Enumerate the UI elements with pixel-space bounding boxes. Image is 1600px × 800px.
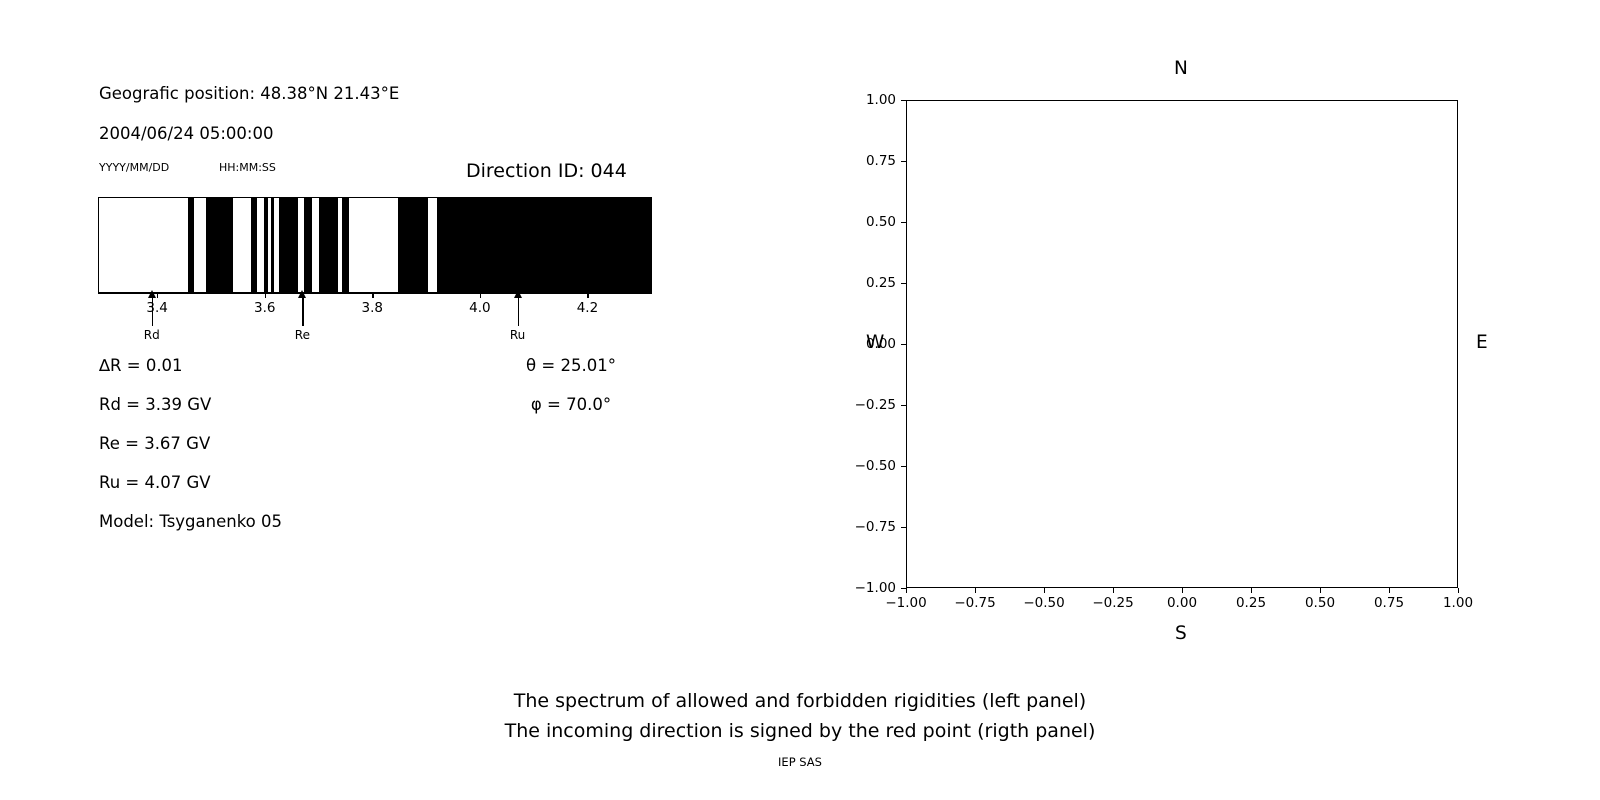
- marker-arrow-head: [148, 290, 156, 298]
- param-theta: θ = 25.01°: [526, 356, 616, 375]
- param-phi: φ = 70.0°: [531, 395, 611, 414]
- marker-arrow-shaft: [302, 296, 303, 326]
- param-re: Re = 3.67 GV: [99, 434, 210, 453]
- x-axis-tick-label: −0.25: [1092, 595, 1133, 611]
- y-axis-tick: [901, 344, 906, 345]
- x-axis-tick: [1182, 588, 1183, 593]
- forbidden-band: [279, 198, 297, 292]
- y-axis-tick-label: −1.00: [834, 580, 896, 596]
- rigidity-tick-mark: [265, 293, 266, 298]
- x-axis-tick: [1320, 588, 1321, 593]
- x-axis-tick-label: −0.75: [954, 595, 995, 611]
- x-axis-tick-label: 0.00: [1167, 595, 1197, 611]
- y-axis-tick-label: −0.50: [834, 458, 896, 474]
- marker-arrow-head: [514, 290, 522, 298]
- x-axis-tick: [975, 588, 976, 593]
- figure-caption: The spectrum of allowed and forbidden ri…: [0, 686, 1600, 746]
- x-axis-tick: [1389, 588, 1390, 593]
- x-axis-tick-label: −1.00: [885, 595, 926, 611]
- forbidden-band: [398, 198, 429, 292]
- forbidden-band: [188, 198, 194, 292]
- y-axis-tick: [901, 161, 906, 162]
- marker-arrow-shaft: [152, 296, 153, 326]
- param-delta-r: ∆R = 0.01: [99, 356, 183, 375]
- x-axis-tick: [906, 588, 907, 593]
- date-format-hint: YYYY/MM/DD: [99, 161, 169, 174]
- marker-arrow-shaft: [518, 296, 519, 326]
- marker-label-rd: Rd: [144, 328, 160, 342]
- y-axis-tick-label: −0.25: [834, 397, 896, 413]
- forbidden-band: [319, 198, 337, 292]
- forbidden-band: [271, 198, 274, 292]
- rigidity-tick-label: 3.6: [254, 300, 275, 316]
- y-axis-tick-label: 0.50: [834, 214, 896, 230]
- rigidity-tick-mark: [372, 293, 373, 298]
- compass-label-west: W: [866, 332, 884, 353]
- param-model: Model: Tsyganenko 05: [99, 512, 282, 531]
- y-axis-tick: [901, 466, 906, 467]
- forbidden-band: [251, 198, 257, 292]
- y-axis-tick: [901, 100, 906, 101]
- x-axis-tick: [1113, 588, 1114, 593]
- rigidity-tick-label: 4.2: [577, 300, 598, 316]
- y-axis-tick-label: 0.25: [834, 275, 896, 291]
- forbidden-band: [304, 198, 312, 292]
- compass-label-north: N: [1174, 58, 1188, 79]
- x-axis-tick-label: −0.50: [1023, 595, 1064, 611]
- forbidden-band: [342, 198, 348, 292]
- marker-label-re: Re: [295, 328, 310, 342]
- forbidden-band: [437, 198, 653, 292]
- geographic-position-label: Geografic position: 48.38°N 21.43°E: [99, 84, 399, 103]
- x-axis-tick-label: 0.50: [1305, 595, 1335, 611]
- x-axis-tick: [1044, 588, 1045, 593]
- x-axis-tick-label: 1.00: [1443, 595, 1473, 611]
- time-format-hint: HH:MM:SS: [219, 161, 276, 174]
- rigidity-axis-line: [98, 293, 652, 294]
- asymptotic-direction-plot: [906, 100, 1458, 588]
- x-axis-tick-label: 0.75: [1374, 595, 1404, 611]
- rigidity-tick-mark: [480, 293, 481, 298]
- plot-frame: [906, 100, 1458, 588]
- left-panel: Geografic position: 48.38°N 21.43°E 2004…: [0, 0, 760, 620]
- param-rd: Rd = 3.39 GV: [99, 395, 211, 414]
- direction-id-label: Direction ID: 044: [466, 160, 627, 182]
- x-axis-tick-label: 0.25: [1236, 595, 1266, 611]
- rigidity-tick-mark: [587, 293, 588, 298]
- y-axis-tick-label: 1.00: [834, 92, 896, 108]
- marker-arrow-head: [298, 290, 306, 298]
- param-ru: Ru = 4.07 GV: [99, 473, 211, 492]
- y-axis-tick-label: −0.75: [834, 519, 896, 535]
- y-axis-tick-label: 0.00: [834, 336, 896, 352]
- rigidity-tick-label: 3.8: [362, 300, 383, 316]
- rigidity-tick-label: 4.0: [469, 300, 490, 316]
- y-axis-tick: [901, 527, 906, 528]
- rigidity-tick-label: 3.4: [146, 300, 167, 316]
- rigidity-tick-mark: [157, 293, 158, 298]
- compass-label-south: S: [1175, 623, 1187, 644]
- y-axis-tick: [901, 283, 906, 284]
- rigidity-spectrum-bar: [98, 197, 652, 293]
- marker-label-ru: Ru: [510, 328, 525, 342]
- y-axis-tick-label: 0.75: [834, 153, 896, 169]
- x-axis-tick: [1458, 588, 1459, 593]
- x-axis-tick: [1251, 588, 1252, 593]
- forbidden-band: [264, 198, 267, 292]
- compass-label-east: E: [1476, 332, 1488, 353]
- y-axis-tick: [901, 222, 906, 223]
- footer-credit: IEP SAS: [0, 755, 1600, 769]
- datetime-label: 2004/06/24 05:00:00: [99, 124, 273, 143]
- y-axis-tick: [901, 405, 906, 406]
- caption-line-2: The incoming direction is signed by the …: [0, 716, 1600, 746]
- caption-line-1: The spectrum of allowed and forbidden ri…: [0, 686, 1600, 716]
- forbidden-band: [206, 198, 232, 292]
